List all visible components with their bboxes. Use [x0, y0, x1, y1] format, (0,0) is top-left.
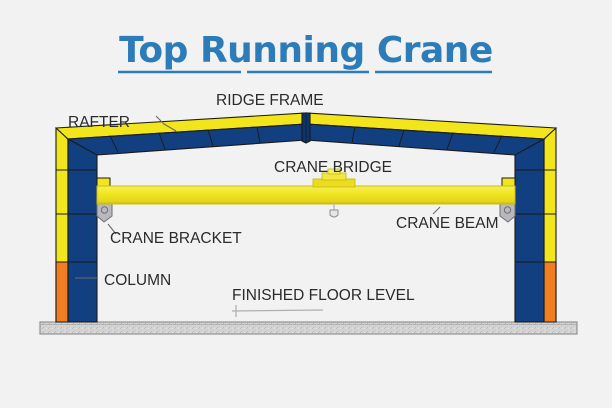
diagram-canvas: Top Running Crane: [0, 0, 612, 408]
label-finished-floor-level: FINISHED FLOOR LEVEL: [232, 287, 415, 304]
label-rafter: RAFTER: [68, 114, 130, 131]
column-right: [515, 128, 556, 322]
crane-hook-block: [330, 210, 338, 217]
page-title-group: Top Running Crane: [118, 30, 493, 72]
column-left-base: [56, 262, 68, 322]
column-left-web: [68, 128, 97, 322]
column-right-web: [515, 128, 544, 322]
label-crane-bridge: CRANE BRIDGE: [274, 159, 392, 176]
crane-bridge-girder: [97, 186, 515, 204]
column-left: [56, 128, 97, 322]
label-crane-beam: CRANE BEAM: [396, 215, 499, 232]
label-column: COLUMN: [104, 272, 171, 289]
ridge-frame-joint: [302, 113, 310, 143]
column-right-base: [544, 262, 556, 322]
label-crane-bracket: CRANE BRACKET: [110, 230, 242, 247]
label-ridge-frame: RIDGE FRAME: [216, 92, 324, 109]
floor-slab: [40, 322, 577, 334]
page-title: Top Running Crane: [119, 30, 493, 71]
top-running-crane-diagram: Top Running Crane: [0, 0, 612, 408]
floor-slab-body: [40, 322, 577, 334]
